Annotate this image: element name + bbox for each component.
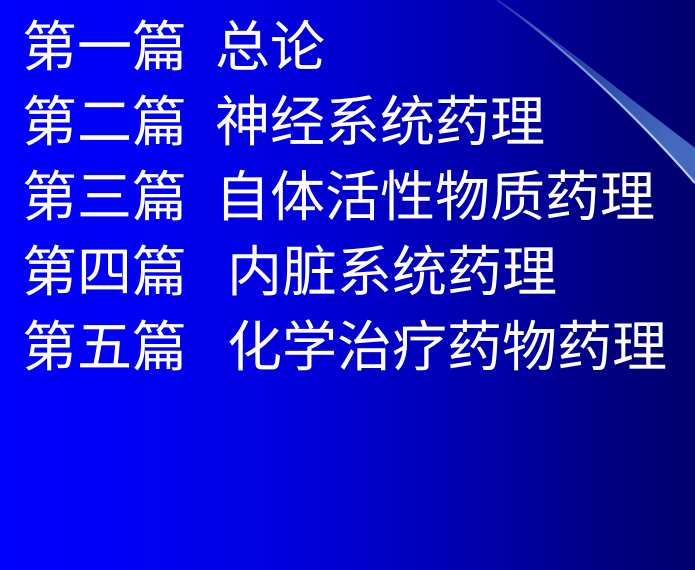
slide-line-2: 第二篇神经系统药理 [22, 85, 695, 160]
line-3-body: 自体活性物质药理 [215, 165, 655, 229]
slide-line-1: 第一篇总论 [22, 10, 695, 85]
line-2-body: 神经系统药理 [215, 90, 545, 154]
line-5-body: 化学治疗药物药理 [227, 315, 667, 379]
line-5-prefix: 第五篇 [22, 315, 187, 379]
presentation-slide: 第一篇总论 第二篇神经系统药理 第三篇自体活性物质药理 第四篇内脏系统药理 第五… [0, 0, 695, 570]
line-1-body: 总论 [215, 15, 325, 79]
line-3-prefix: 第三篇 [22, 165, 187, 229]
slide-text-block: 第一篇总论 第二篇神经系统药理 第三篇自体活性物质药理 第四篇内脏系统药理 第五… [22, 10, 695, 385]
slide-line-4: 第四篇内脏系统药理 [22, 235, 695, 310]
line-1-prefix: 第一篇 [22, 15, 187, 79]
line-2-prefix: 第二篇 [22, 90, 187, 154]
slide-line-5: 第五篇化学治疗药物药理 [22, 310, 695, 385]
slide-line-3: 第三篇自体活性物质药理 [22, 160, 695, 235]
line-4-prefix: 第四篇 [22, 240, 187, 304]
line-4-body: 内脏系统药理 [227, 240, 557, 304]
